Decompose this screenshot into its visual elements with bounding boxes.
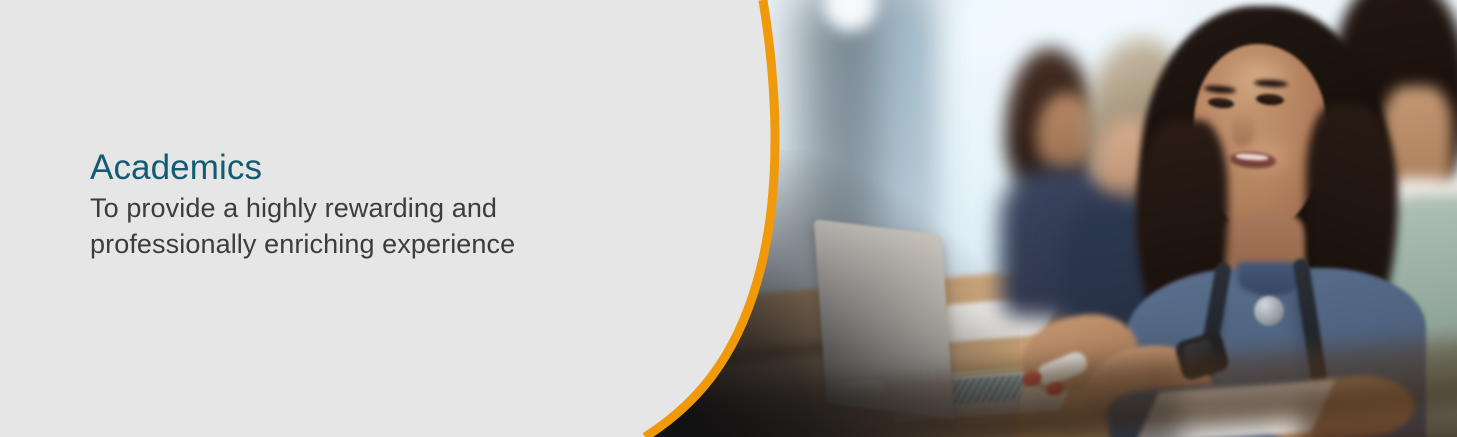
- academics-banner: Academics To provide a highly rewarding …: [0, 0, 1457, 437]
- banner-text-block: Academics To provide a highly rewarding …: [90, 148, 690, 262]
- stethoscope-chestpiece: [1254, 296, 1284, 326]
- page-title: Academics: [90, 148, 690, 187]
- page-subtitle: To provide a highly rewarding and profes…: [90, 191, 690, 262]
